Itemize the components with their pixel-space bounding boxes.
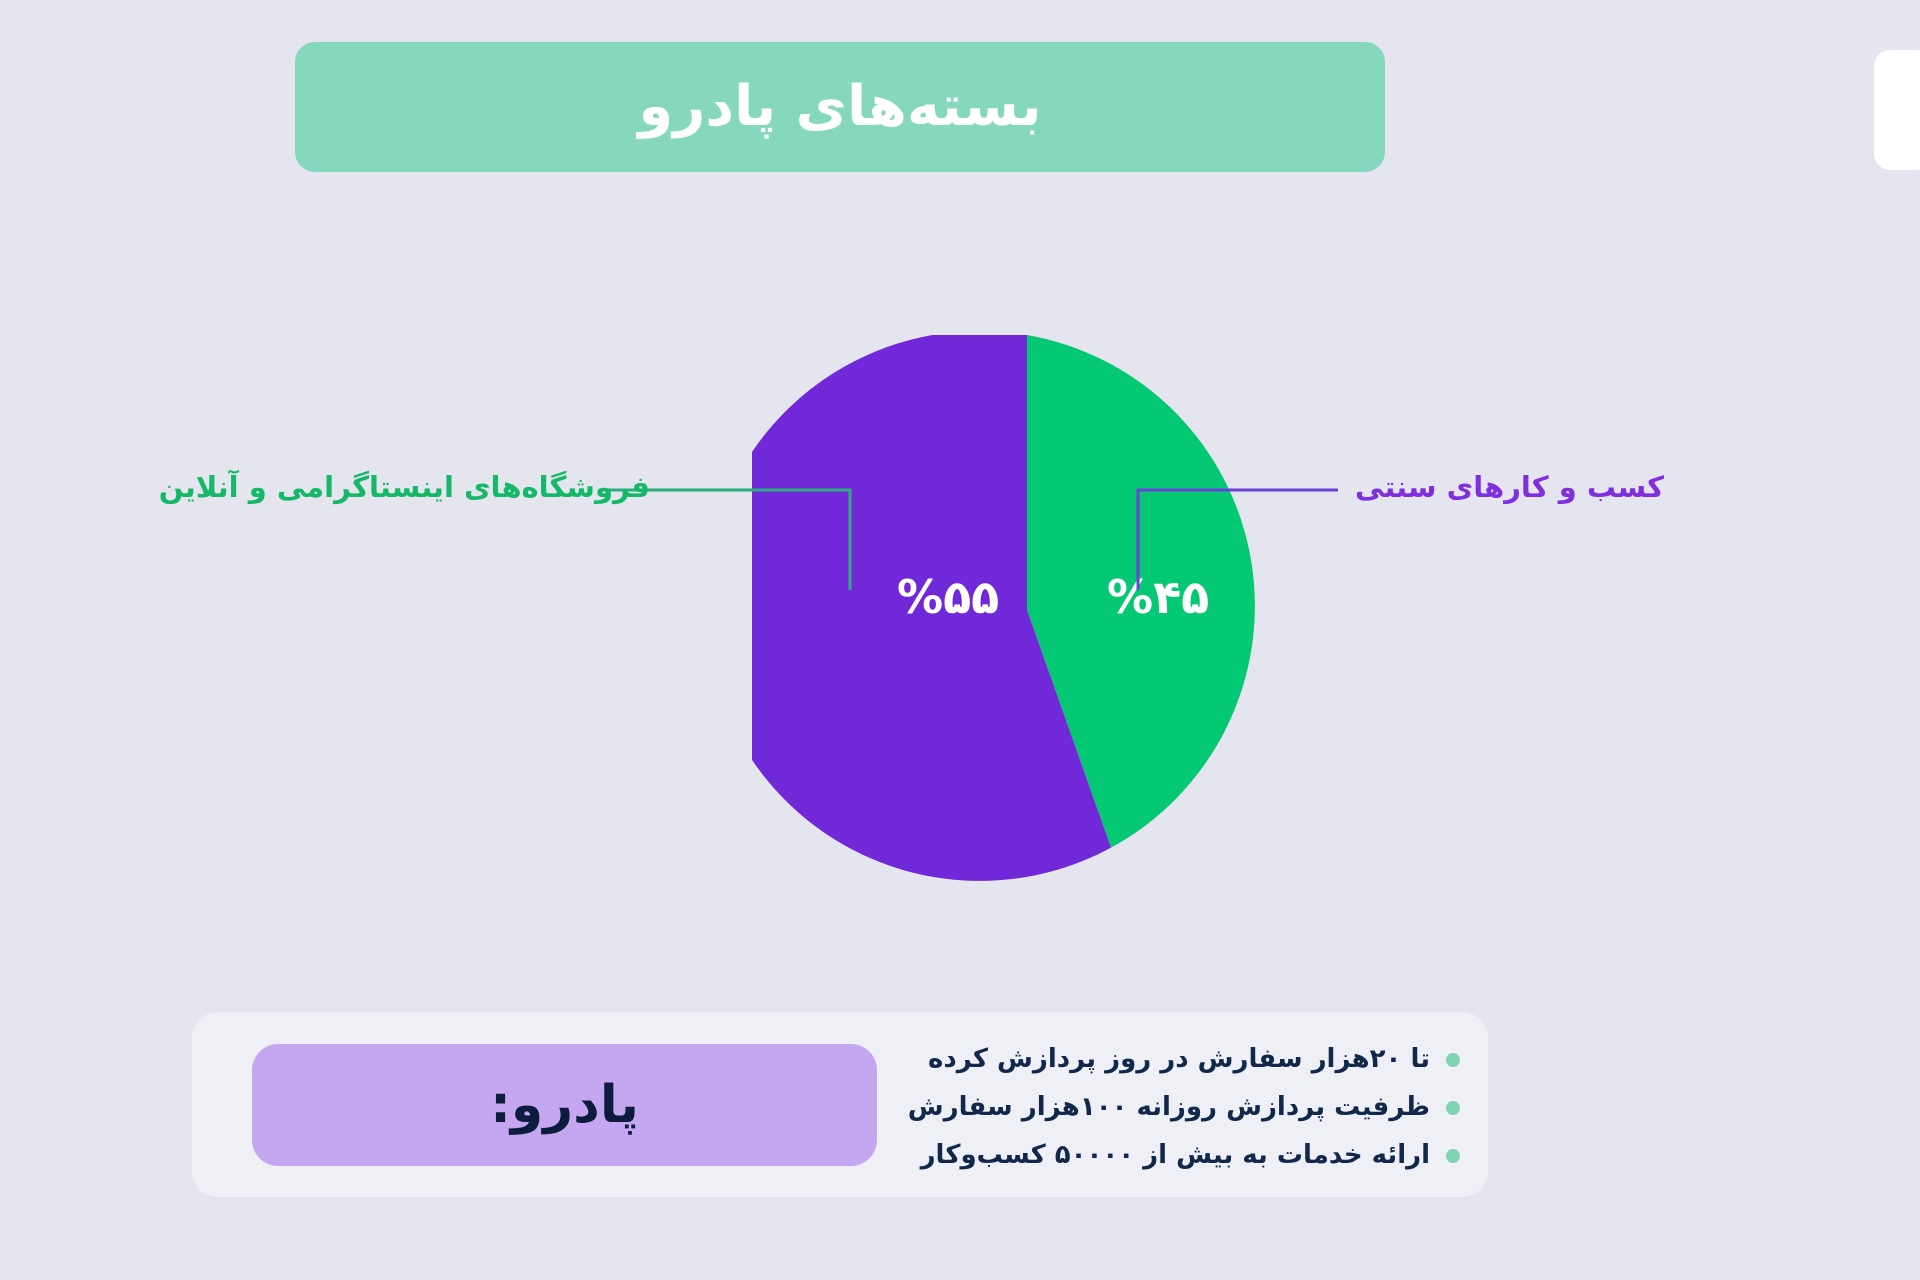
pie-value-traditional-business: %۴۵ [1107, 570, 1209, 624]
bullet-text: ظرفیت پردازش روزانه ۱۰۰هزار سفارش [908, 1092, 1430, 1123]
bullet-dot-icon [1446, 1149, 1460, 1163]
pie-chart-section: %۵۵ %۴۵ فروشگاه‌های اینستاگرامی و آنلاین… [0, 300, 1920, 900]
pie-svg [752, 335, 1302, 885]
pie-label-online-shops: فروشگاه‌های اینستاگرامی و آنلاین [159, 470, 650, 505]
bullet-text: تا ۲۰هزار سفارش در روز پردازش کرده [928, 1044, 1430, 1075]
header-banner: بسته‌های پادرو [295, 42, 1385, 172]
brand-badge-label: پادرو: [490, 1075, 639, 1135]
pie-value-online-shops: %۵۵ [897, 570, 999, 624]
edge-card [1874, 50, 1920, 170]
pie-chart: %۵۵ %۴۵ [752, 335, 1302, 885]
stats-panel: تا ۲۰هزار سفارش در روز پردازش کرده ظرفیت… [192, 1012, 1488, 1197]
bullet-dot-icon [1446, 1101, 1460, 1115]
pie-label-traditional-business: کسب و کارهای سنتی [1355, 470, 1664, 505]
brand-badge: پادرو: [252, 1044, 877, 1166]
bullet-text: ارائه خدمات به بیش از ۵۰۰۰۰ کسب‌وکار [921, 1140, 1430, 1171]
slide-root: بسته‌های پادرو %۵۵ %۴۵ فروشگاه‌ه [0, 0, 1920, 1280]
page-title: بسته‌های پادرو [638, 79, 1041, 135]
bullet-dot-icon [1446, 1053, 1460, 1067]
